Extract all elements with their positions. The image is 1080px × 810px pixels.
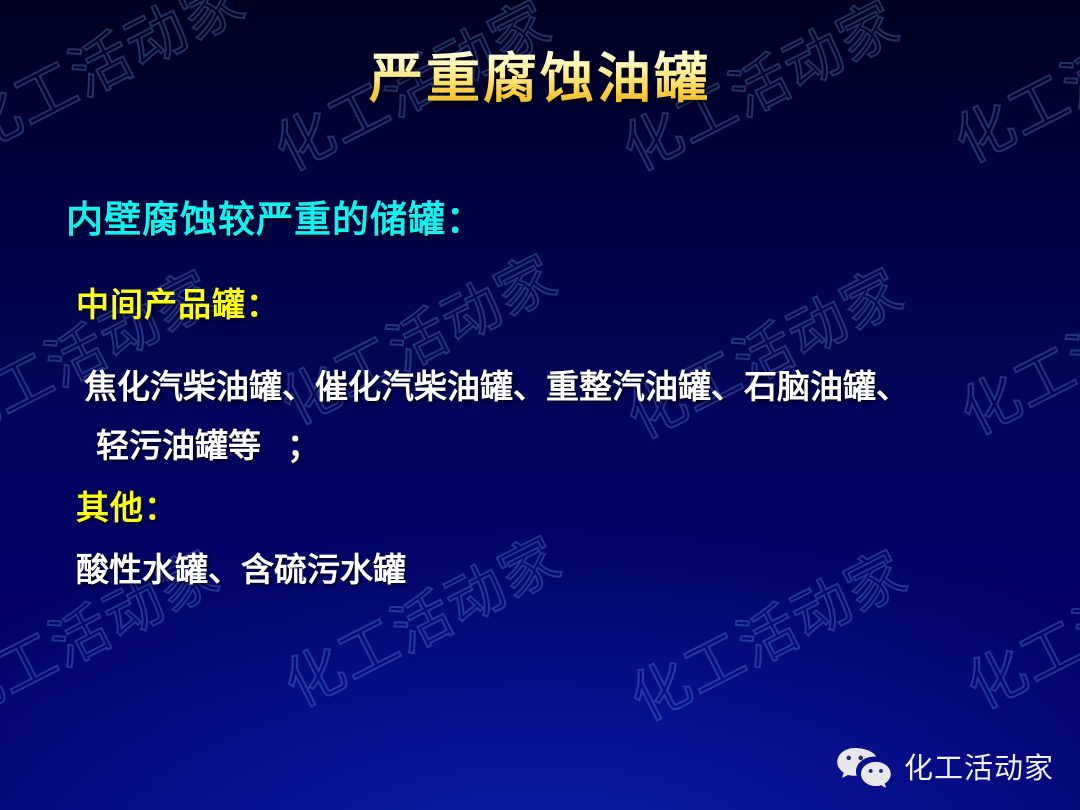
- section-line-intermediate-1: 焦化汽柴油罐、催化汽柴油罐、重整汽油罐、石脑油罐、: [84, 365, 909, 409]
- wechat-account-badge: 化工活动家: [836, 746, 1054, 790]
- section-line-intermediate-2: 轻污油罐等；: [96, 424, 320, 468]
- slide-content: 严重腐蚀油罐 内壁腐蚀较严重的储罐： 中间产品罐： 焦化汽柴油罐、催化汽柴油罐、…: [0, 0, 1080, 810]
- slide-canvas: 化工活动家 化工活动家 化工活动家 化工活动家 化工活动家 化工活动家 化工活动…: [0, 0, 1080, 810]
- section-line-intermediate-2-text: 轻污油罐等: [96, 426, 261, 465]
- section-heading-intermediate-product-tanks: 中间产品罐：: [76, 284, 280, 326]
- section-heading-other: 其他：: [76, 487, 178, 529]
- wechat-icon: [836, 746, 892, 790]
- wechat-account-name: 化工活动家: [904, 751, 1054, 785]
- section-line-intermediate-2-semicolon: ；: [287, 426, 320, 465]
- section-line-other-1: 酸性水罐、含硫污水罐: [76, 548, 406, 592]
- slide-title: 严重腐蚀油罐: [0, 47, 1080, 109]
- lead-heading: 内壁腐蚀较严重的储罐：: [66, 196, 484, 242]
